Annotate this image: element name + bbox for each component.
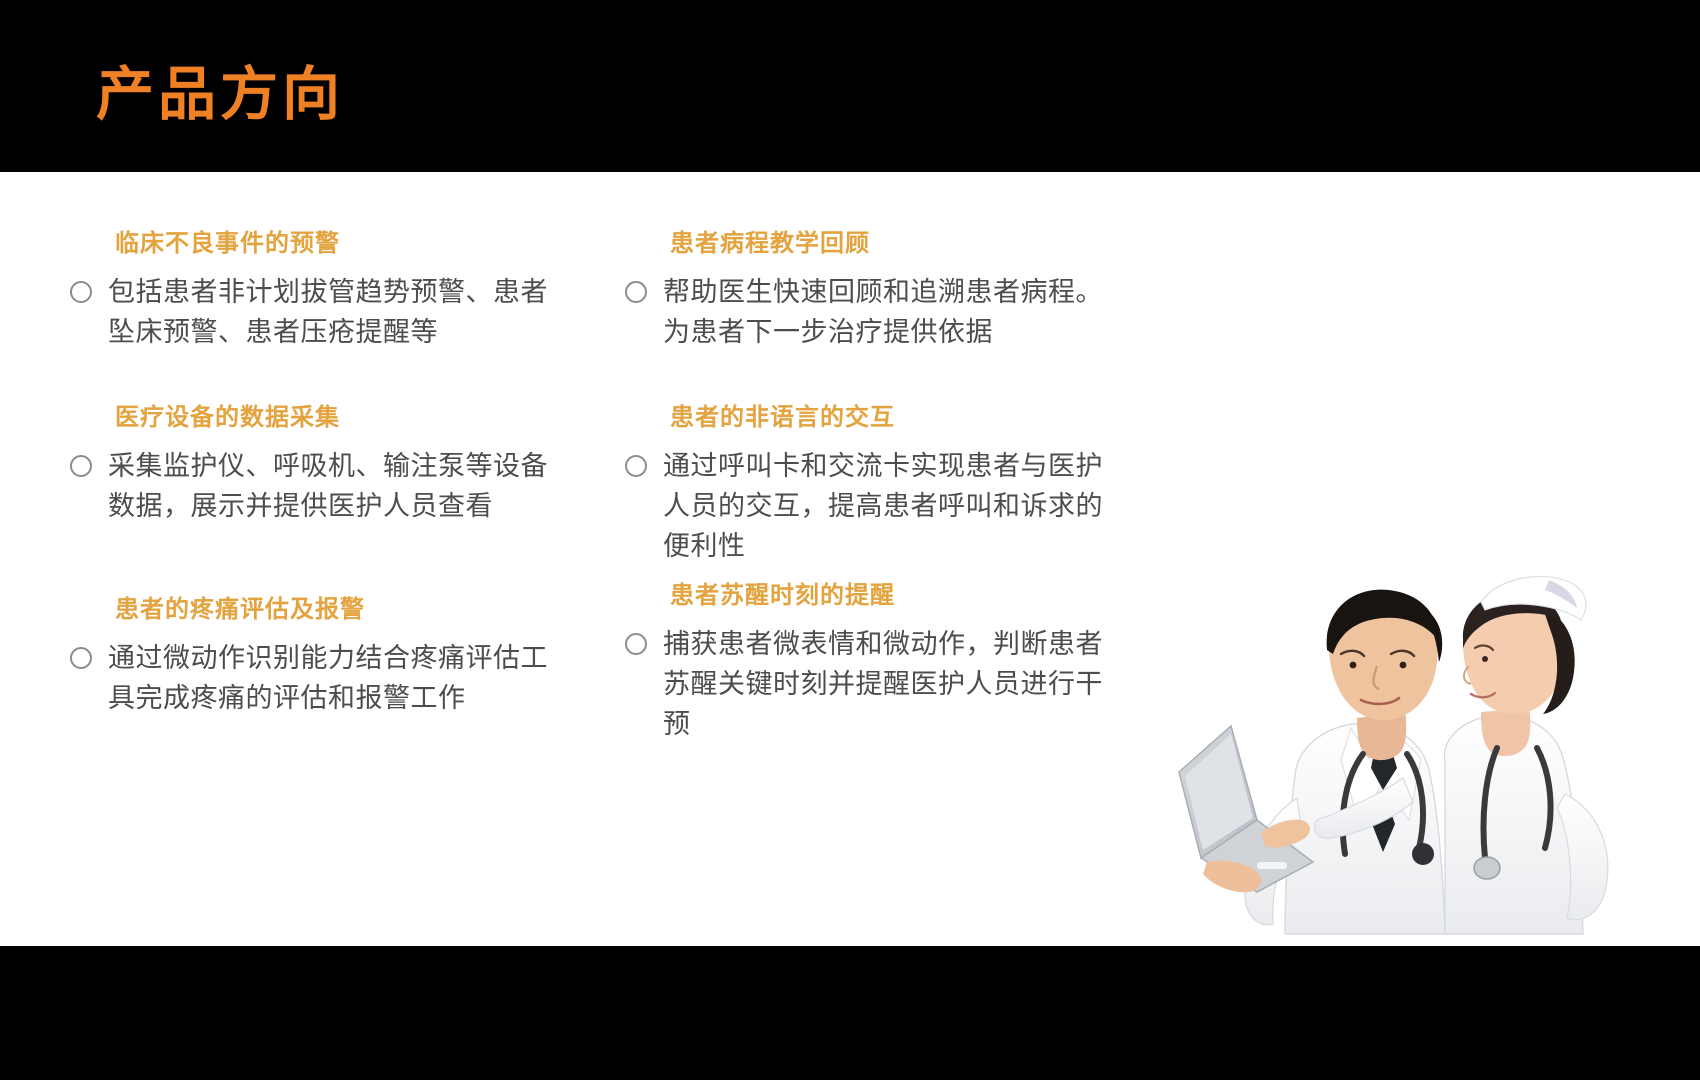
bottom-black-band: [0, 946, 1700, 1080]
circle-bullet-icon: [70, 647, 92, 669]
feature-text: 通过微动作识别能力结合疼痛评估工具完成疼痛的评估和报警工作: [108, 639, 548, 719]
feature-block-left-1: 临床不良事件的预警 包括患者非计划拔管趋势预警、患者坠床预警、患者压疮提醒等: [70, 230, 590, 353]
page-title: 产品方向: [96, 66, 344, 124]
circle-bullet-icon: [70, 455, 92, 477]
circle-bullet-icon: [625, 455, 647, 477]
circle-bullet-icon: [625, 281, 647, 303]
feature-heading: 患者的疼痛评估及报警: [115, 596, 590, 625]
feature-body: 采集监护仪、呼吸机、输注泵等设备数据，展示并提供医护人员查看: [70, 447, 590, 527]
feature-block-right-1: 患者病程教学回顾 帮助医生快速回顾和追溯患者病程。为患者下一步治疗提供依据: [625, 230, 1145, 353]
feature-body: 捕获患者微表情和微动作，判断患者苏醒关键时刻并提醒医护人员进行干预: [625, 625, 1145, 745]
feature-text: 捕获患者微表情和微动作，判断患者苏醒关键时刻并提醒医护人员进行干预: [663, 625, 1103, 745]
feature-text: 帮助医生快速回顾和追溯患者病程。为患者下一步治疗提供依据: [663, 273, 1103, 353]
slide-root: 产品方向 临床不良事件的预警 包括患者非计划拔管趋势预警、患者坠床预警、患者压疮…: [0, 0, 1700, 1080]
feature-block-right-3: 患者苏醒时刻的提醒 捕获患者微表情和微动作，判断患者苏醒关键时刻并提醒医护人员进…: [625, 582, 1145, 745]
doctor-and-nurse-with-laptop-photo: [1145, 562, 1685, 952]
feature-text: 采集监护仪、呼吸机、输注泵等设备数据，展示并提供医护人员查看: [108, 447, 548, 527]
feature-heading: 医疗设备的数据采集: [115, 404, 590, 433]
feature-block-right-2: 患者的非语言的交互 通过呼叫卡和交流卡实现患者与医护人员的交互，提高患者呼叫和诉…: [625, 404, 1145, 567]
feature-body: 通过呼叫卡和交流卡实现患者与医护人员的交互，提高患者呼叫和诉求的便利性: [625, 447, 1145, 567]
circle-bullet-icon: [625, 633, 647, 655]
feature-block-left-2: 医疗设备的数据采集 采集监护仪、呼吸机、输注泵等设备数据，展示并提供医护人员查看: [70, 404, 590, 527]
feature-body: 包括患者非计划拔管趋势预警、患者坠床预警、患者压疮提醒等: [70, 273, 590, 353]
circle-bullet-icon: [70, 281, 92, 303]
feature-text: 通过呼叫卡和交流卡实现患者与医护人员的交互，提高患者呼叫和诉求的便利性: [663, 447, 1103, 567]
content-area: 临床不良事件的预警 包括患者非计划拔管趋势预警、患者坠床预警、患者压疮提醒等 医…: [0, 172, 1700, 946]
feature-heading: 临床不良事件的预警: [115, 230, 590, 259]
feature-body: 帮助医生快速回顾和追溯患者病程。为患者下一步治疗提供依据: [625, 273, 1145, 353]
feature-heading: 患者苏醒时刻的提醒: [670, 582, 1145, 611]
feature-heading: 患者的非语言的交互: [670, 404, 1145, 433]
feature-body: 通过微动作识别能力结合疼痛评估工具完成疼痛的评估和报警工作: [70, 639, 590, 719]
feature-heading: 患者病程教学回顾: [670, 230, 1145, 259]
feature-block-left-3: 患者的疼痛评估及报警 通过微动作识别能力结合疼痛评估工具完成疼痛的评估和报警工作: [70, 596, 590, 719]
top-black-band: 产品方向: [0, 0, 1700, 172]
feature-text: 包括患者非计划拔管趋势预警、患者坠床预警、患者压疮提醒等: [108, 273, 548, 353]
